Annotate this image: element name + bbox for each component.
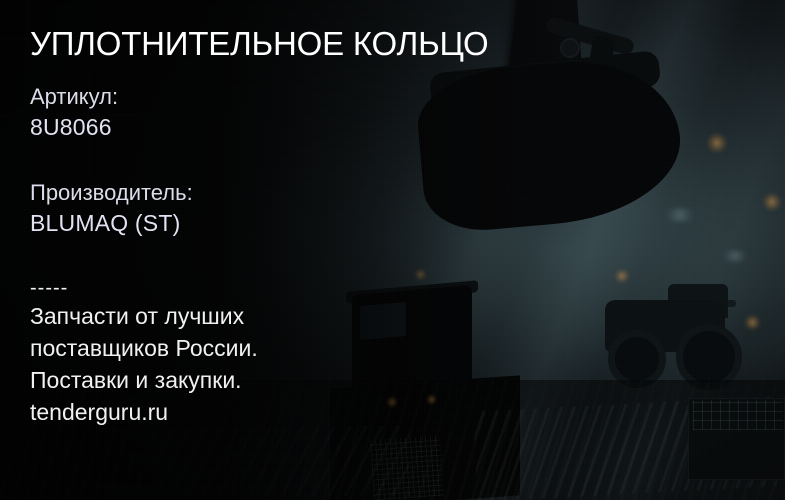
- section-divider: -----: [30, 278, 68, 298]
- manufacturer-label: Производитель:: [30, 178, 193, 208]
- manufacturer-value: BLUMAQ (ST): [30, 208, 193, 238]
- article-block: Артикул: 8U8066: [30, 82, 118, 142]
- article-value: 8U8066: [30, 112, 118, 142]
- promo-site-url[interactable]: tenderguru.ru: [30, 396, 258, 428]
- banner-content: УПЛОТНИТЕЛЬНОЕ КОЛЬЦО Артикул: 8U8066 Пр…: [30, 0, 550, 500]
- promo-line-1: Запчасти от лучших: [30, 300, 258, 332]
- product-banner-card: УПЛОТНИТЕЛЬНОЕ КОЛЬЦО Артикул: 8U8066 Пр…: [0, 0, 785, 500]
- promo-line-3: Поставки и закупки.: [30, 364, 258, 396]
- page-title: УПЛОТНИТЕЛЬНОЕ КОЛЬЦО: [30, 24, 489, 64]
- promo-block: Запчасти от лучших поставщиков России. П…: [30, 300, 258, 428]
- article-label: Артикул:: [30, 82, 118, 112]
- promo-line-2: поставщиков России.: [30, 332, 258, 364]
- manufacturer-block: Производитель: BLUMAQ (ST): [30, 178, 193, 238]
